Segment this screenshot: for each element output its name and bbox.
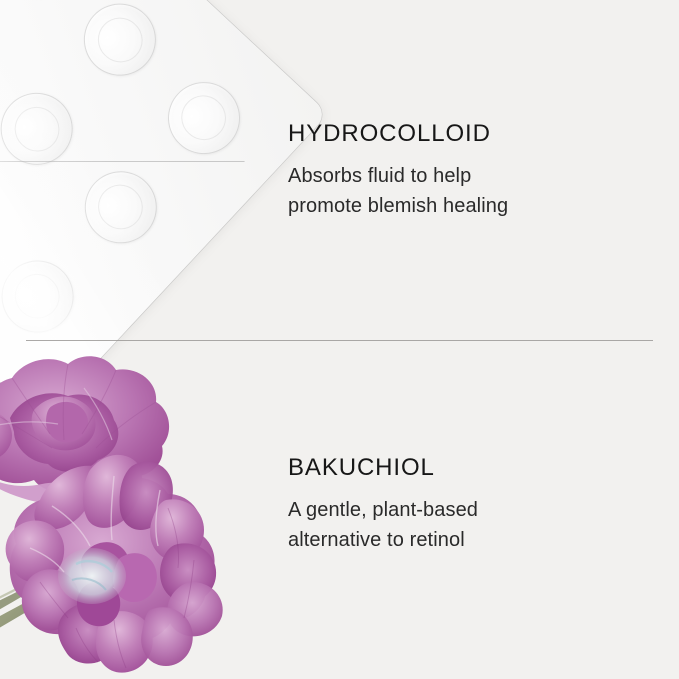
patch-dot (0, 167, 5, 269)
bakuchiol-body-line-1: A gentle, plant-based (288, 495, 628, 525)
patch-dot (0, 245, 88, 347)
hydrocolloid-text-block: HYDROCOLLOID Absorbs fluid to help promo… (288, 122, 628, 221)
patch-dot (0, 0, 87, 13)
hydrocolloid-heading: HYDROCOLLOID (288, 122, 628, 146)
patch-dot (0, 0, 4, 102)
patch-dot (70, 156, 172, 258)
purple-tulip-flowers-image (0, 348, 236, 679)
bakuchiol-text-block: BAKUCHIOL A gentle, plant-based alternat… (288, 456, 628, 555)
product-ingredient-panel: HYDROCOLLOID Absorbs fluid to help promo… (0, 0, 679, 679)
hydrocolloid-body-line-1: Absorbs fluid to help (288, 161, 628, 191)
bakuchiol-body-line-2: alternative to retinol (288, 525, 628, 555)
hydrocolloid-body: Absorbs fluid to help promote blemish he… (288, 161, 628, 221)
patch-dot (0, 78, 88, 180)
bakuchiol-body: A gentle, plant-based alternative to ret… (288, 495, 628, 555)
section-hydrocolloid: HYDROCOLLOID Absorbs fluid to help promo… (0, 0, 679, 340)
hydrocolloid-body-line-2: promote blemish healing (288, 191, 628, 221)
bakuchiol-heading: BAKUCHIOL (288, 456, 628, 480)
patch-dot (153, 67, 255, 169)
sheet-crease-line (0, 161, 245, 162)
patch-dot (69, 0, 171, 91)
